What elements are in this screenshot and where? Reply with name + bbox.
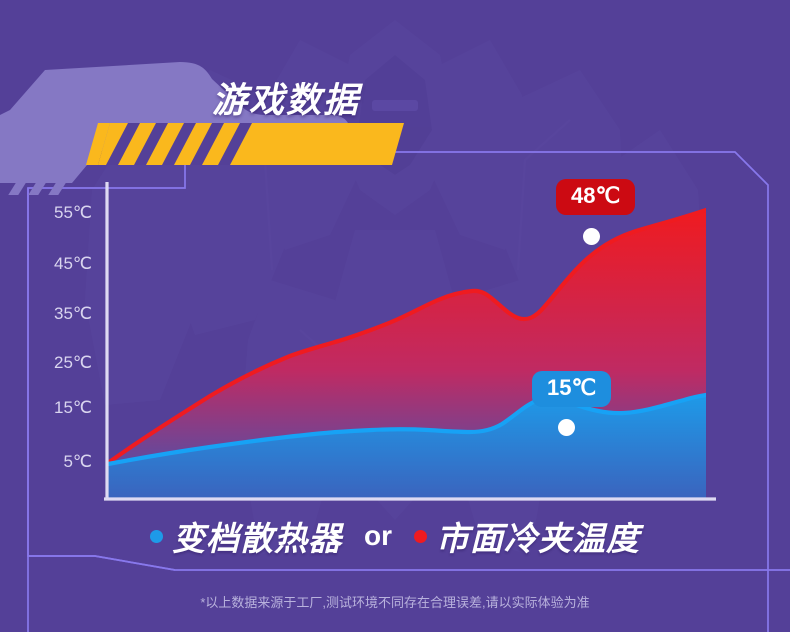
legend-separator: or <box>364 520 392 552</box>
legend-dot-blue-icon <box>150 530 163 543</box>
data-point-marker-blue <box>558 419 575 436</box>
legend-dot-red-icon <box>414 530 427 543</box>
value-badge-red: 48℃ <box>556 179 635 215</box>
y-tick-15: 15℃ <box>22 398 92 418</box>
legend-label-red: 市面冷夹温度 <box>436 512 640 560</box>
legend-label-blue: 变档散热器 <box>172 512 342 560</box>
y-tick-55: 55℃ <box>22 203 92 223</box>
chart-legend: 变档散热器 or 市面冷夹温度 <box>0 512 790 560</box>
footnote-text: *以上数据来源于工厂,测试环境不同存在合理误差,请以实际体验为准 <box>0 592 790 611</box>
value-badge-blue: 15℃ <box>532 371 611 407</box>
y-tick-35: 35℃ <box>22 304 92 324</box>
data-point-marker-red <box>583 228 600 245</box>
y-tick-5: 5℃ <box>22 452 92 472</box>
y-tick-25: 25℃ <box>22 353 92 373</box>
y-tick-45: 45℃ <box>22 254 92 274</box>
legend-item-red: 市面冷夹温度 <box>414 512 640 560</box>
legend-item-blue: 变档散热器 <box>150 512 342 560</box>
